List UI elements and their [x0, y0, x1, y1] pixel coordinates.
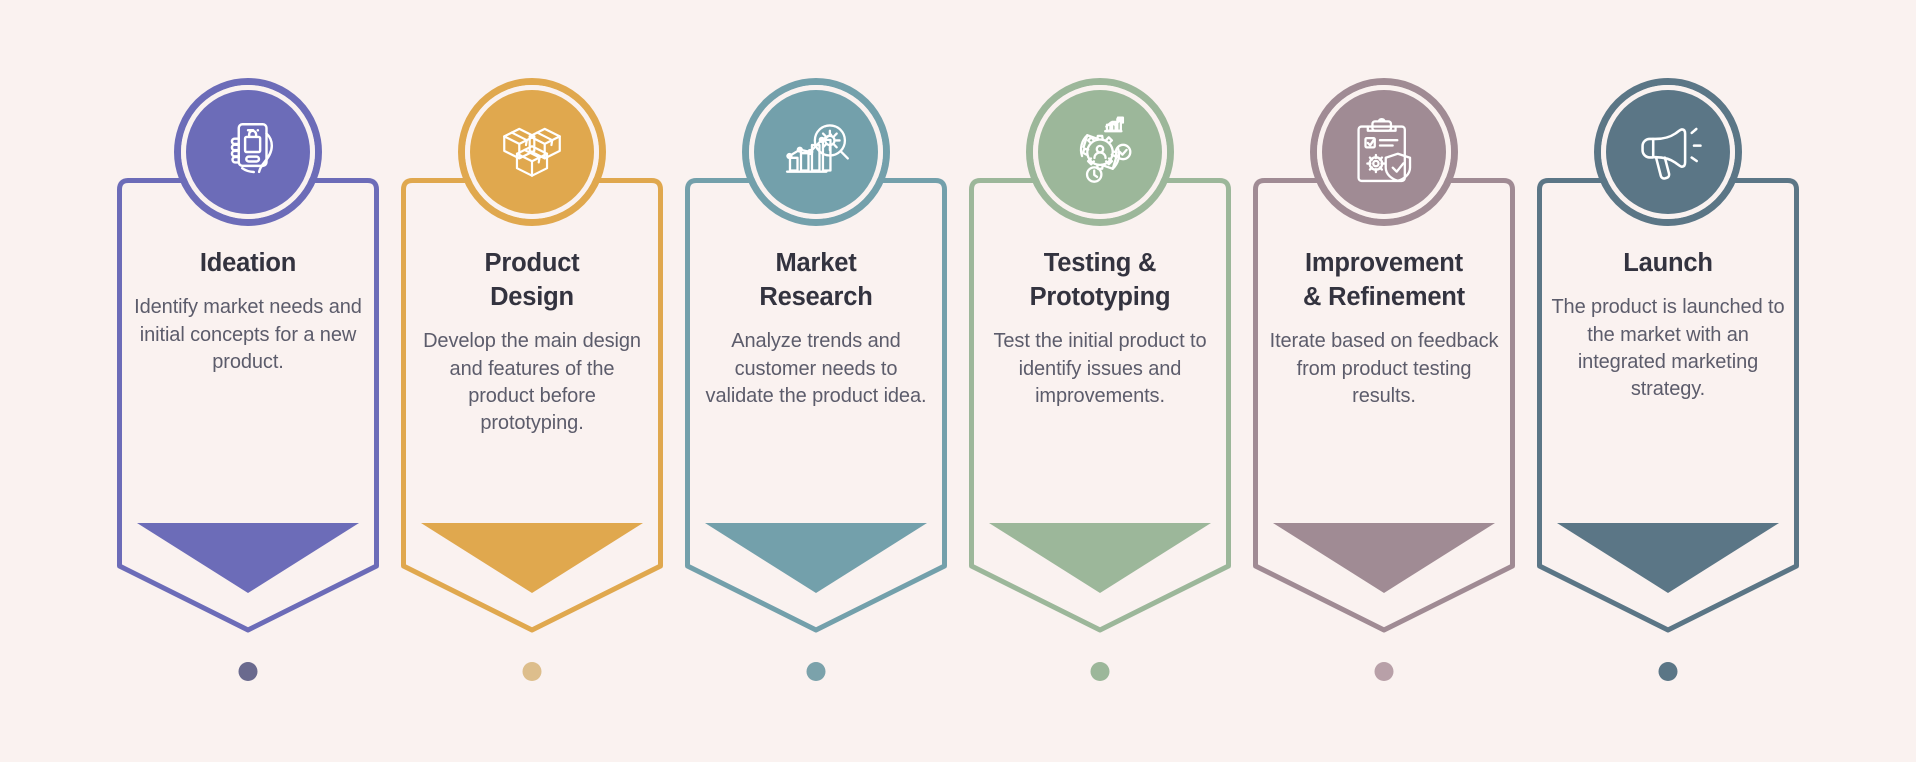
step-progress-dot[interactable]	[239, 662, 258, 681]
step-text-block: IdeationIdentify market needs and initia…	[131, 246, 365, 376]
step-icon-medallion[interactable]	[174, 78, 322, 226]
bar-chart-magnifier-gear-icon	[779, 115, 853, 189]
step-title: Ideation	[131, 246, 365, 280]
step-text-block: LaunchThe product is launched to the mar…	[1551, 246, 1785, 404]
megaphone-icon	[1631, 115, 1705, 189]
step-description: The product is launched to the market wi…	[1551, 294, 1785, 404]
process-step-row: IdeationIdentify market needs and initia…	[0, 0, 1916, 762]
hand-holding-phone-shopping-icon	[211, 115, 285, 189]
medallion-disc	[1606, 90, 1730, 214]
step-chevron-fill	[989, 523, 1211, 593]
step-text-block: Testing & PrototypingTest the initial pr…	[983, 246, 1217, 410]
step-icon-medallion[interactable]	[1026, 78, 1174, 226]
step-chevron-fill	[421, 523, 643, 593]
step-description: Develop the main design and features of …	[415, 328, 649, 438]
process-step-card[interactable]: LaunchThe product is launched to the mar…	[1537, 78, 1799, 698]
clipboard-gear-shield-icon	[1347, 115, 1421, 189]
process-step-card[interactable]: IdeationIdentify market needs and initia…	[117, 78, 379, 698]
step-icon-medallion[interactable]	[742, 78, 890, 226]
step-icon-medallion[interactable]	[1310, 78, 1458, 226]
step-progress-dot[interactable]	[807, 662, 826, 681]
process-step-card[interactable]: Improvement & RefinementIterate based on…	[1253, 78, 1515, 698]
step-icon-medallion[interactable]	[1594, 78, 1742, 226]
step-chevron-fill	[137, 523, 359, 593]
gear-user-cycle-clock-icon	[1063, 115, 1137, 189]
step-title: Testing & Prototyping	[983, 246, 1217, 314]
process-step-card[interactable]: Product DesignDevelop the main design an…	[401, 78, 663, 698]
step-description: Analyze trends and customer needs to val…	[699, 328, 933, 410]
step-description: Iterate based on feedback from product t…	[1267, 328, 1501, 410]
step-progress-dot[interactable]	[1091, 662, 1110, 681]
step-title: Improvement & Refinement	[1267, 246, 1501, 314]
infographic-canvas: IdeationIdentify market needs and initia…	[0, 0, 1916, 762]
step-chevron-fill	[1273, 523, 1495, 593]
process-step-card[interactable]: Market ResearchAnalyze trends and custom…	[685, 78, 947, 698]
step-progress-dot[interactable]	[1659, 662, 1678, 681]
step-text-block: Product DesignDevelop the main design an…	[415, 246, 649, 438]
process-step-card[interactable]: Testing & PrototypingTest the initial pr…	[969, 78, 1231, 698]
medallion-disc	[1322, 90, 1446, 214]
step-text-block: Market ResearchAnalyze trends and custom…	[699, 246, 933, 410]
step-chevron-fill	[1557, 523, 1779, 593]
medallion-disc	[186, 90, 310, 214]
step-title: Launch	[1551, 246, 1785, 280]
step-text-block: Improvement & RefinementIterate based on…	[1267, 246, 1501, 410]
step-chevron-fill	[705, 523, 927, 593]
step-description: Test the initial product to identify iss…	[983, 328, 1217, 410]
step-description: Identify market needs and initial concep…	[131, 294, 365, 376]
step-progress-dot[interactable]	[1375, 662, 1394, 681]
medallion-disc	[1038, 90, 1162, 214]
step-title: Market Research	[699, 246, 933, 314]
step-progress-dot[interactable]	[523, 662, 542, 681]
stacked-boxes-icon	[495, 115, 569, 189]
medallion-disc	[470, 90, 594, 214]
step-icon-medallion[interactable]	[458, 78, 606, 226]
step-title: Product Design	[415, 246, 649, 314]
medallion-disc	[754, 90, 878, 214]
